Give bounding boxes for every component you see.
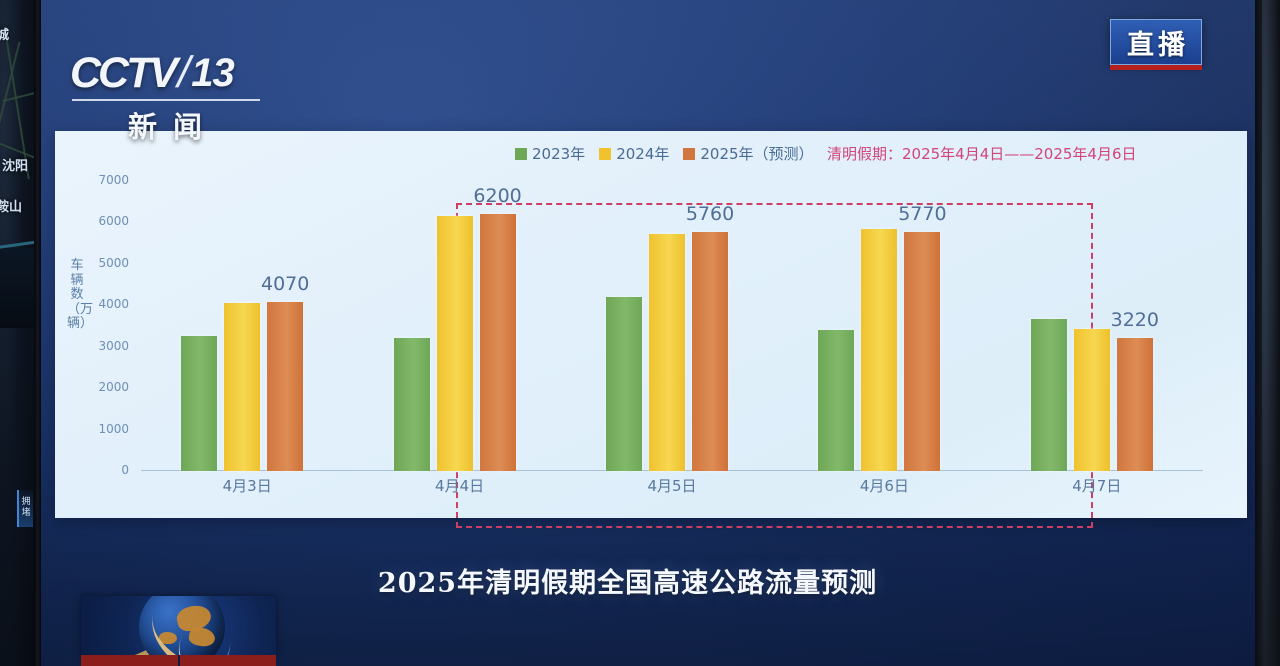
- bar[interactable]: 3220: [1117, 338, 1153, 471]
- y-axis-tick-label: 4000: [98, 297, 139, 311]
- bar-value-label: 5770: [898, 203, 946, 225]
- bar[interactable]: [394, 338, 430, 471]
- bar[interactable]: [649, 234, 685, 471]
- bar[interactable]: [1074, 329, 1110, 471]
- legend-item[interactable]: 2023年: [515, 143, 585, 164]
- chart-panel: 2023年2024年2025年（预测） 清明假期：2025年4月4日——2025…: [55, 131, 1247, 518]
- holiday-highlight-box: [456, 203, 1093, 528]
- bar-group: 5760: [606, 232, 738, 471]
- live-badge-label: 直播: [1123, 23, 1189, 62]
- legend-label: 2024年: [616, 143, 669, 164]
- y-axis-tick-label: 3000: [98, 339, 139, 353]
- map-water: [0, 248, 34, 328]
- studio-ambient-glow: [1262, 0, 1280, 666]
- y-axis-tick-label: 7000: [98, 173, 139, 187]
- y-axis-tick-label: 6000: [98, 214, 139, 228]
- x-axis-tick-label: 4月3日: [223, 475, 272, 496]
- legend-item[interactable]: 2025年（预测）: [683, 143, 813, 164]
- map-city-label: 沈阳: [2, 155, 28, 174]
- bar[interactable]: 5760: [692, 232, 728, 471]
- bar[interactable]: 5770: [904, 232, 940, 471]
- bar-group: 3220: [1031, 319, 1163, 471]
- bar[interactable]: [224, 303, 260, 471]
- holiday-annotation: 清明假期：2025年4月4日——2025年4月6日: [827, 143, 1137, 164]
- map-city-label: 城: [0, 24, 9, 43]
- y-axis-tick-label: 0: [121, 463, 139, 477]
- y-axis-tick-label: 1000: [98, 422, 139, 436]
- bar[interactable]: 4070: [267, 302, 303, 471]
- channel-subtitle: 新闻: [70, 104, 260, 146]
- y-axis-tick-row: 7000: [141, 180, 1203, 181]
- bar[interactable]: [606, 297, 642, 471]
- channel-logo: CCTV / 13 新闻: [70, 48, 270, 146]
- x-axis-tick-label: 4月5日: [647, 475, 696, 496]
- thumbnail-caption-bar: [81, 655, 276, 666]
- bar[interactable]: [861, 229, 897, 471]
- traffic-jam-tag[interactable]: 拥堵: [17, 490, 33, 527]
- thumbnail-caption-split: [178, 655, 180, 666]
- live-badge-underline: [1110, 65, 1202, 70]
- legend-label: 2025年（预测）: [700, 143, 813, 164]
- legend-label: 2023年: [532, 143, 585, 164]
- bar[interactable]: [818, 330, 854, 471]
- bar[interactable]: 6200: [480, 214, 516, 471]
- x-axis-tick-label: 4月6日: [860, 475, 909, 496]
- station-ident-thumbnail: [81, 596, 276, 656]
- legend-item[interactable]: 2024年: [599, 143, 669, 164]
- x-axis-tick-label: 4月4日: [435, 475, 484, 496]
- screenshot-stage: 城 沈阳 鞍山 拥堵 CCTV / 13 新闻 直播 2023年2024年202…: [0, 0, 1280, 666]
- y-axis-tick-label: 5000: [98, 256, 139, 270]
- chart-legend: 2023年2024年2025年（预测）: [515, 143, 814, 164]
- bar-group: 5770: [818, 229, 950, 471]
- bar[interactable]: [437, 216, 473, 471]
- logo-divider: [72, 99, 260, 101]
- bar-group: 4070: [181, 302, 313, 471]
- live-badge: 直播: [1110, 19, 1202, 65]
- legend-swatch-icon: [599, 148, 611, 160]
- bar-value-label: 6200: [473, 185, 521, 207]
- bar-value-label: 5760: [686, 203, 734, 225]
- cctv-wordmark: CCTV: [70, 49, 175, 98]
- channel-logo-row: CCTV / 13: [70, 48, 270, 98]
- bar-value-label: 3220: [1111, 309, 1159, 331]
- lower-third-title: 2025年清明假期全国高速公路流量预测: [0, 561, 1255, 600]
- y-axis-title: 车辆数（万辆）: [67, 259, 87, 332]
- bar[interactable]: [181, 336, 217, 471]
- legend-swatch-icon: [515, 148, 527, 160]
- bar-value-label: 4070: [261, 273, 309, 295]
- x-axis-tick-label: 4月7日: [1072, 475, 1121, 496]
- bar-group: 6200: [394, 214, 526, 471]
- y-axis-tick-label: 2000: [98, 380, 139, 394]
- chart-plot-area: 7000600050004000300020001000040704月3日620…: [141, 169, 1203, 471]
- channel-number: 13: [191, 51, 234, 96]
- y-axis-tick-row: 6000: [141, 221, 1203, 222]
- legend-swatch-icon: [683, 148, 695, 160]
- map-city-label: 鞍山: [0, 196, 22, 215]
- bar[interactable]: [1031, 319, 1067, 471]
